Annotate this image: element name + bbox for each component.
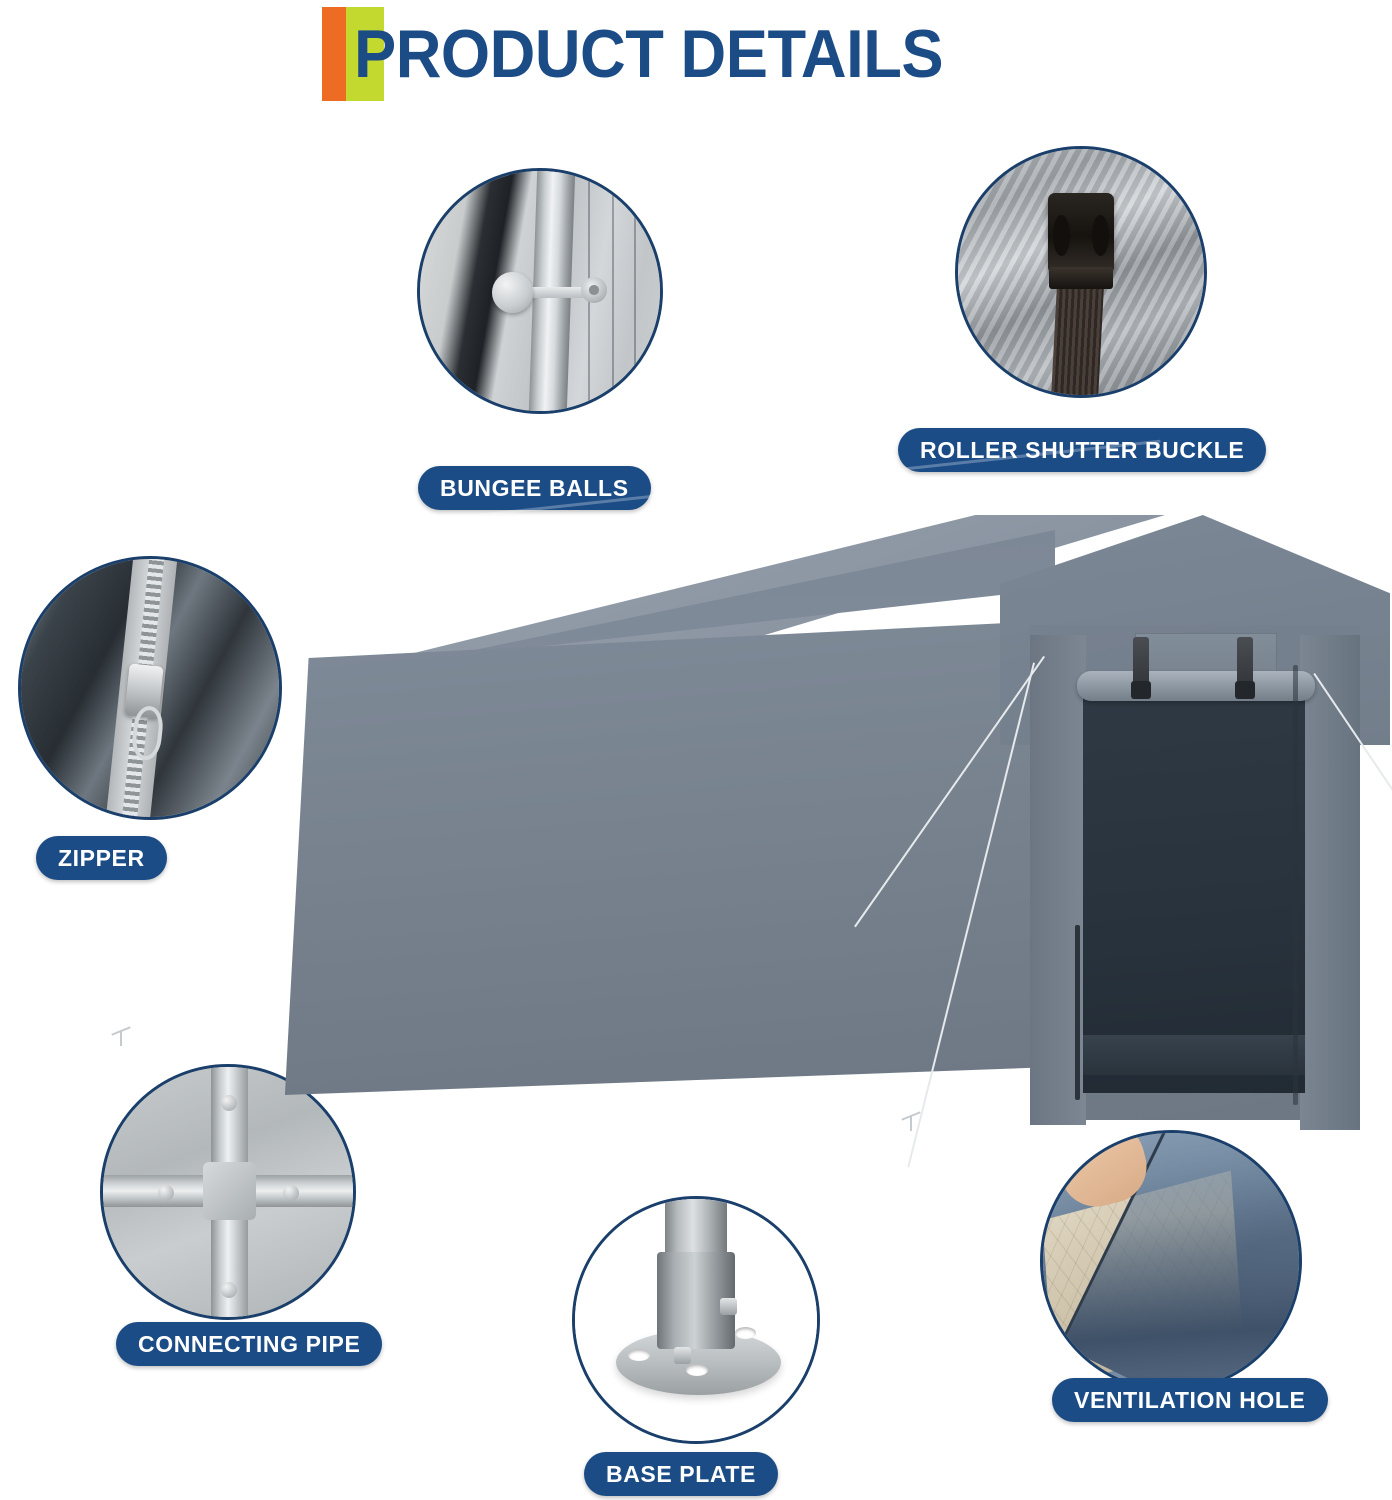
callout-photo-zipper bbox=[18, 556, 282, 820]
product-details-page: PRODUCT DETAILS BUNGEE BALLS ROLLER SHUT… bbox=[0, 0, 1392, 1500]
callout-label-base-plate: BASE PLATE bbox=[584, 1452, 778, 1496]
zipper-photo bbox=[21, 559, 279, 817]
callout-label-ventilation-hole: VENTILATION HOLE bbox=[1052, 1378, 1328, 1422]
shed-front-right-panel bbox=[1300, 635, 1360, 1130]
roller-shutter-buckle-photo bbox=[958, 149, 1204, 395]
product-image-storage-shed bbox=[255, 515, 1365, 1145]
shed-rolled-up-door bbox=[1077, 671, 1315, 701]
accent-bar-orange bbox=[322, 7, 346, 101]
callout-label-bungee-balls: BUNGEE BALLS bbox=[418, 466, 651, 510]
callout-photo-bungee-balls bbox=[417, 168, 663, 414]
page-title-block: PRODUCT DETAILS bbox=[322, 6, 987, 102]
shed-door-sill bbox=[1083, 1035, 1305, 1075]
guy-stake-left bbox=[120, 1030, 122, 1046]
shed-leg-inner bbox=[1075, 925, 1080, 1100]
page-title: PRODUCT DETAILS bbox=[354, 7, 943, 101]
callout-photo-base-plate bbox=[572, 1196, 820, 1444]
callout-photo-ventilation-hole bbox=[1040, 1130, 1302, 1392]
shed-leg-right bbox=[1293, 665, 1298, 1105]
guy-stake-center bbox=[910, 1115, 912, 1131]
shed-side-wall bbox=[277, 620, 1067, 1095]
callout-label-zipper: ZIPPER bbox=[36, 836, 167, 880]
bungee-balls-photo bbox=[420, 171, 660, 411]
callout-label-connecting-pipe: CONNECTING PIPE bbox=[116, 1322, 382, 1366]
ventilation-hole-photo bbox=[1043, 1133, 1299, 1389]
callout-photo-roller-shutter-buckle bbox=[955, 146, 1207, 398]
door-buckle-right bbox=[1235, 681, 1255, 699]
base-plate-photo bbox=[575, 1199, 817, 1441]
shed-door-opening bbox=[1083, 695, 1305, 1093]
door-buckle-left bbox=[1131, 681, 1151, 699]
